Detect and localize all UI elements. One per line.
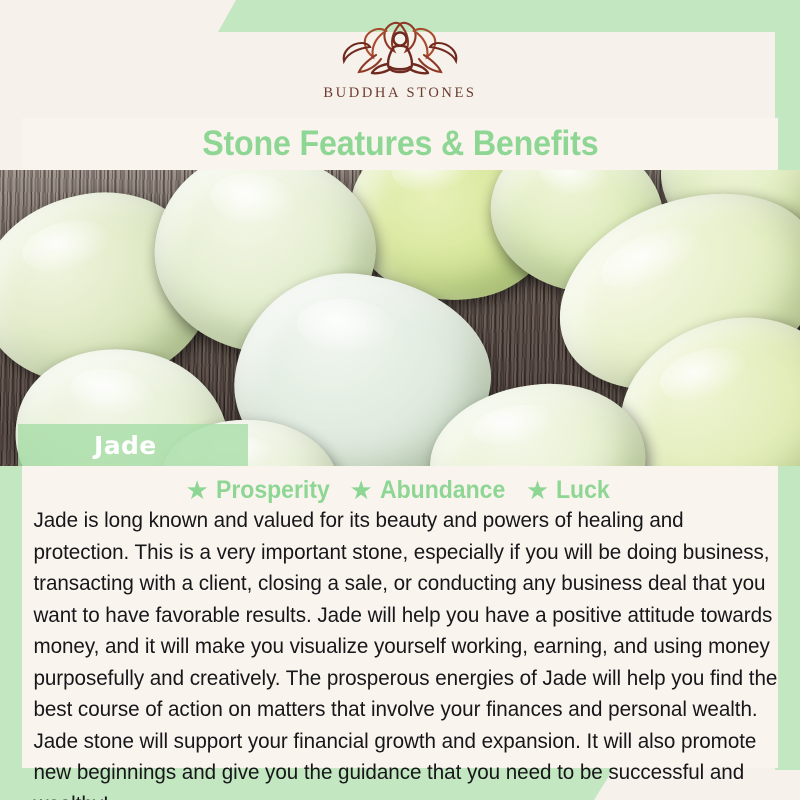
star-icon: ★	[185, 477, 208, 503]
benefit-item: ★ Luck	[526, 476, 615, 505]
benefit-label: Luck	[556, 476, 610, 505]
page-title: Stone Features & Benefits	[202, 124, 598, 164]
stone-name-label: Jade	[94, 431, 157, 460]
title-band: Stone Features & Benefits	[22, 118, 778, 170]
benefit-item: ★ Abundance	[349, 476, 515, 505]
benefit-label: Abundance	[380, 476, 505, 505]
content-panel: ★ Prosperity ★ Abundance ★ Luck Jade is …	[22, 466, 778, 768]
benefit-item: ★ Prosperity	[185, 476, 339, 505]
stone-benefits-poster: BUDDHA STONES Stone Features & Benefits …	[0, 0, 800, 800]
benefit-label: Prosperity	[216, 476, 330, 505]
stone-photo	[0, 170, 800, 466]
stone-name-band: Jade	[18, 424, 248, 466]
brand-header: BUDDHA STONES	[0, 0, 800, 118]
star-icon: ★	[526, 477, 549, 503]
star-icon: ★	[349, 477, 372, 503]
brand-logo: BUDDHA STONES	[323, 17, 476, 102]
brand-name: BUDDHA STONES	[323, 85, 476, 102]
benefits-row: ★ Prosperity ★ Abundance ★ Luck	[22, 466, 778, 500]
description-text: Jade is long known and valued for its be…	[22, 504, 790, 800]
lotus-meditation-icon	[326, 17, 474, 79]
